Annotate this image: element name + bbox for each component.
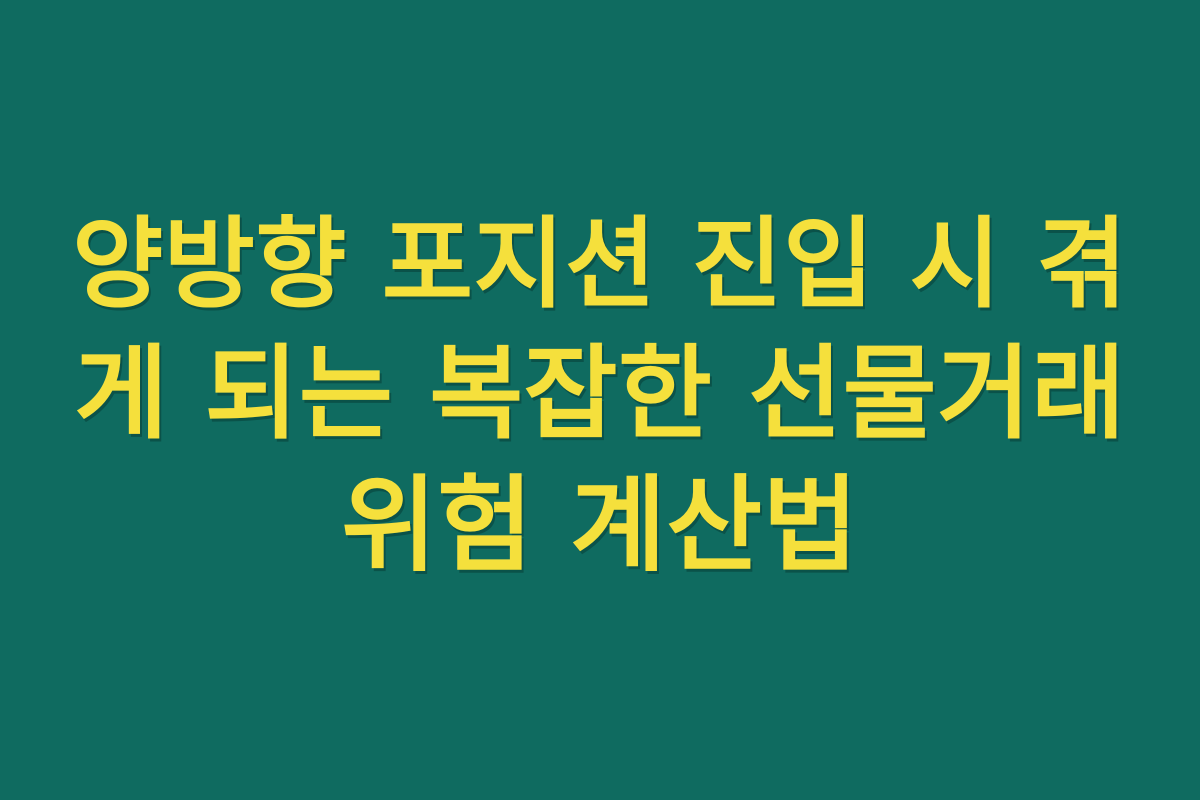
page-title: 양방향 포지션 진입 시 겪 게 되는 복잡한 선물거래 위험 계산법 — [70, 200, 1130, 590]
title-line-1: 양방향 포지션 진입 시 겪 — [70, 200, 1130, 330]
title-line-3: 위험 계산법 — [70, 460, 1130, 590]
title-line-2: 게 되는 복잡한 선물거래 — [70, 330, 1130, 460]
title-banner: 양방향 포지션 진입 시 겪 게 되는 복잡한 선물거래 위험 계산법 — [0, 0, 1200, 800]
